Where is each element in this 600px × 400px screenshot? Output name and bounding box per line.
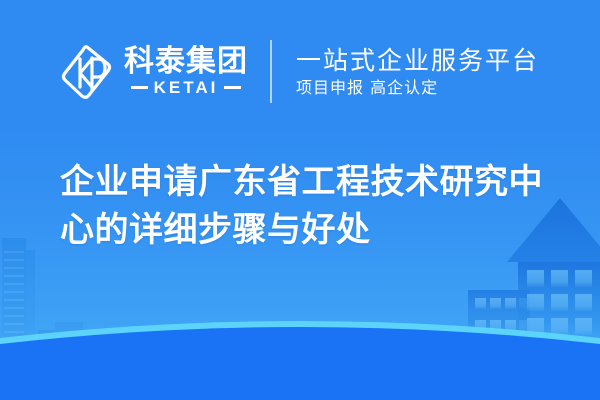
dash-left-icon [131,86,148,89]
brand-name-en: KETAI [154,79,219,96]
banner-root: 科泰集团 KETAI 一站式企业服务平台 项目申报 高企认定 企业申请广东省工程… [0,0,600,400]
tagline-secondary: 项目申报 高企认定 [296,80,539,96]
bottom-wave [0,310,600,400]
header-divider [270,40,272,103]
dash-right-icon [224,86,241,89]
brand-name-en-row: KETAI [124,79,248,96]
brand-logo[interactable]: 科泰集团 KETAI [61,44,248,100]
brand-name-cn: 科泰集团 [124,47,248,77]
page-title: 企业申请广东省工程技术研究中心的详细步骤与好处 [60,158,560,255]
brand-wordmark: 科泰集团 KETAI [124,47,248,96]
ketai-kp-monogram-icon [61,44,113,100]
banner-header: 科泰集团 KETAI 一站式企业服务平台 项目申报 高企认定 [0,40,600,103]
tagline-block: 一站式企业服务平台 项目申报 高企认定 [296,48,539,96]
tagline-primary: 一站式企业服务平台 [296,48,539,73]
